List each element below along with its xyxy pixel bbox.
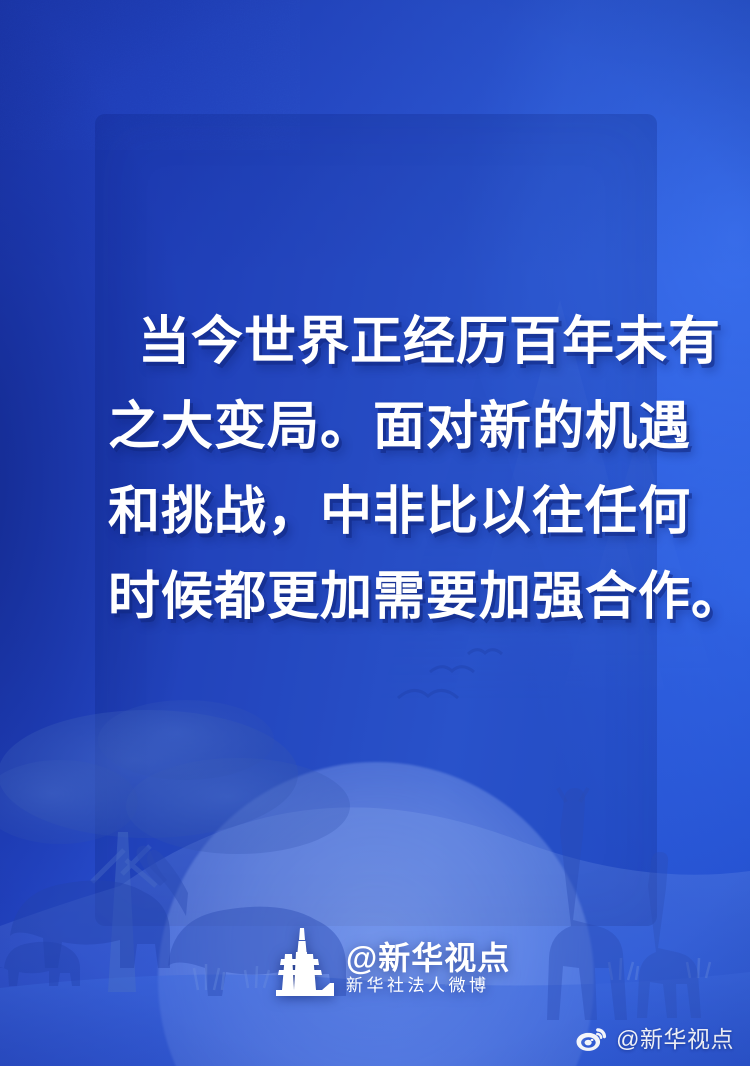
quote-line-2: 之大变局。面对新的机遇 (108, 385, 660, 470)
weibo-icon (576, 1027, 607, 1052)
quote-line-4: 时候都更加需要加强合作。 (108, 555, 660, 640)
logo-title: @新华视点 (346, 942, 510, 974)
scenery-illustration (0, 636, 750, 1066)
quote-line-1: 当今世界正经历百年未有 (108, 300, 660, 385)
quote-line-3: 和挑战，中非比以往任何 (108, 470, 660, 555)
weibo-watermark[interactable]: @新华视点 (576, 1027, 734, 1052)
xinhua-tower-logo-icon (276, 928, 334, 996)
poster-canvas: 当今世界正经历百年未有 之大变局。面对新的机遇 和挑战，中非比以往任何 时候都更… (0, 0, 750, 1066)
logo-subtitle: 新华社法人微博 (346, 977, 510, 994)
weibo-label: @新华视点 (616, 1028, 734, 1051)
xinhua-logo-lockup[interactable]: @新华视点 新华社法人微博 (276, 928, 510, 996)
quote-block: 当今世界正经历百年未有 之大变局。面对新的机遇 和挑战，中非比以往任何 时候都更… (108, 300, 660, 640)
birds (398, 650, 502, 698)
logo-text-group: @新华视点 新华社法人微博 (346, 942, 510, 996)
